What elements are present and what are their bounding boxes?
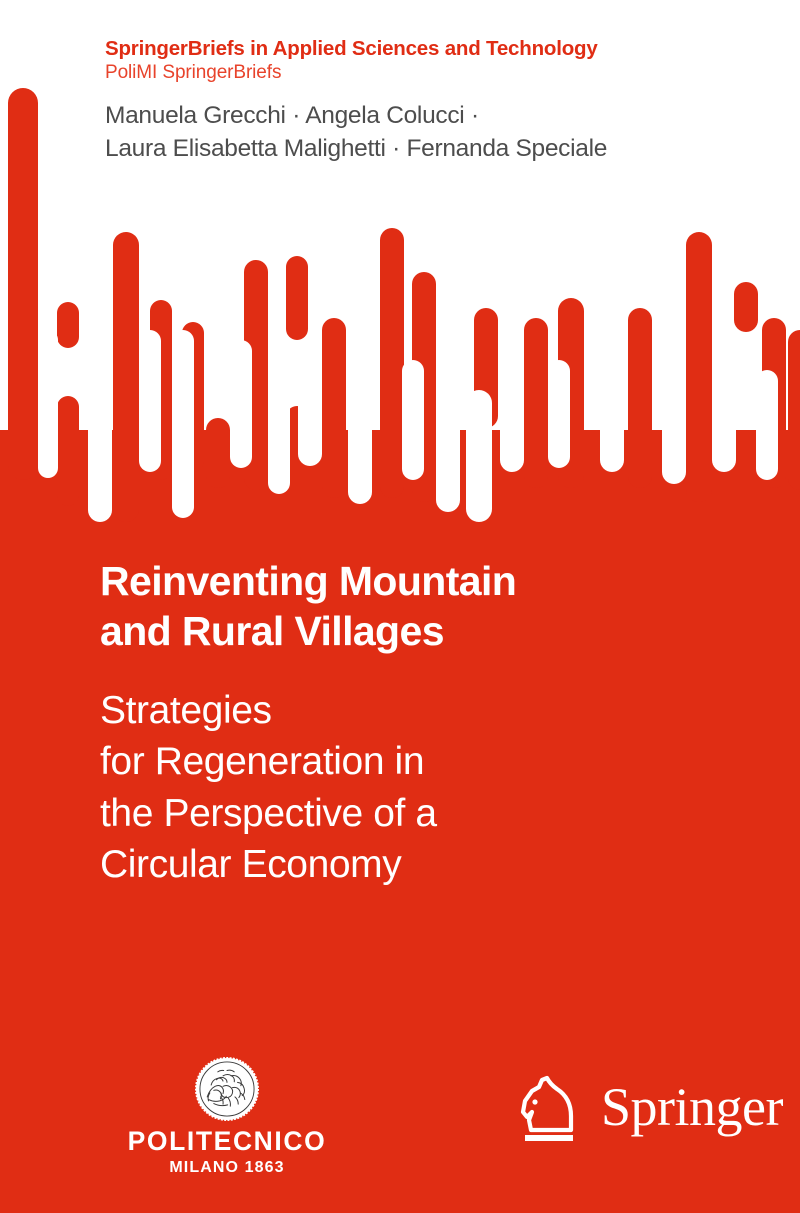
politecnico-milano-logo: POLITECNICO MILANO 1863 [102,1056,352,1176]
polimi-seal-icon [194,1056,260,1122]
series-header: SpringerBriefs in Applied Sciences and T… [105,38,765,85]
springer-knight-icon [515,1072,587,1148]
series-subtitle: PoliMI SpringerBriefs [105,62,765,85]
polimi-tagline: MILANO 1863 [102,1160,352,1176]
title-line-2: and Rural Villages [100,606,740,656]
author-line-1: Manuela Grecchi · Angela Colucci · [105,100,785,133]
subtitle-line-3: the Perspective of a [100,788,760,839]
springer-wordmark: Springer [601,1080,783,1134]
series-title: SpringerBriefs in Applied Sciences and T… [105,38,765,61]
subtitle-line-1: Strategies [100,685,760,736]
author-line-2: Laura Elisabetta Malighetti · Fernanda S… [105,133,785,166]
subtitle-line-4: Circular Economy [100,839,760,890]
book-title: Reinventing Mountain and Rural Villages [100,556,740,656]
book-cover: SpringerBriefs in Applied Sciences and T… [0,0,800,1213]
subtitle-line-2: for Regeneration in [100,736,760,787]
book-subtitle: Strategies for Regeneration in the Persp… [100,685,760,891]
polimi-wordmark: POLITECNICO [102,1128,352,1155]
title-line-1: Reinventing Mountain [100,556,740,606]
author-list: Manuela Grecchi · Angela Colucci · Laura… [105,100,785,165]
springer-logo: Springer [515,1072,783,1148]
